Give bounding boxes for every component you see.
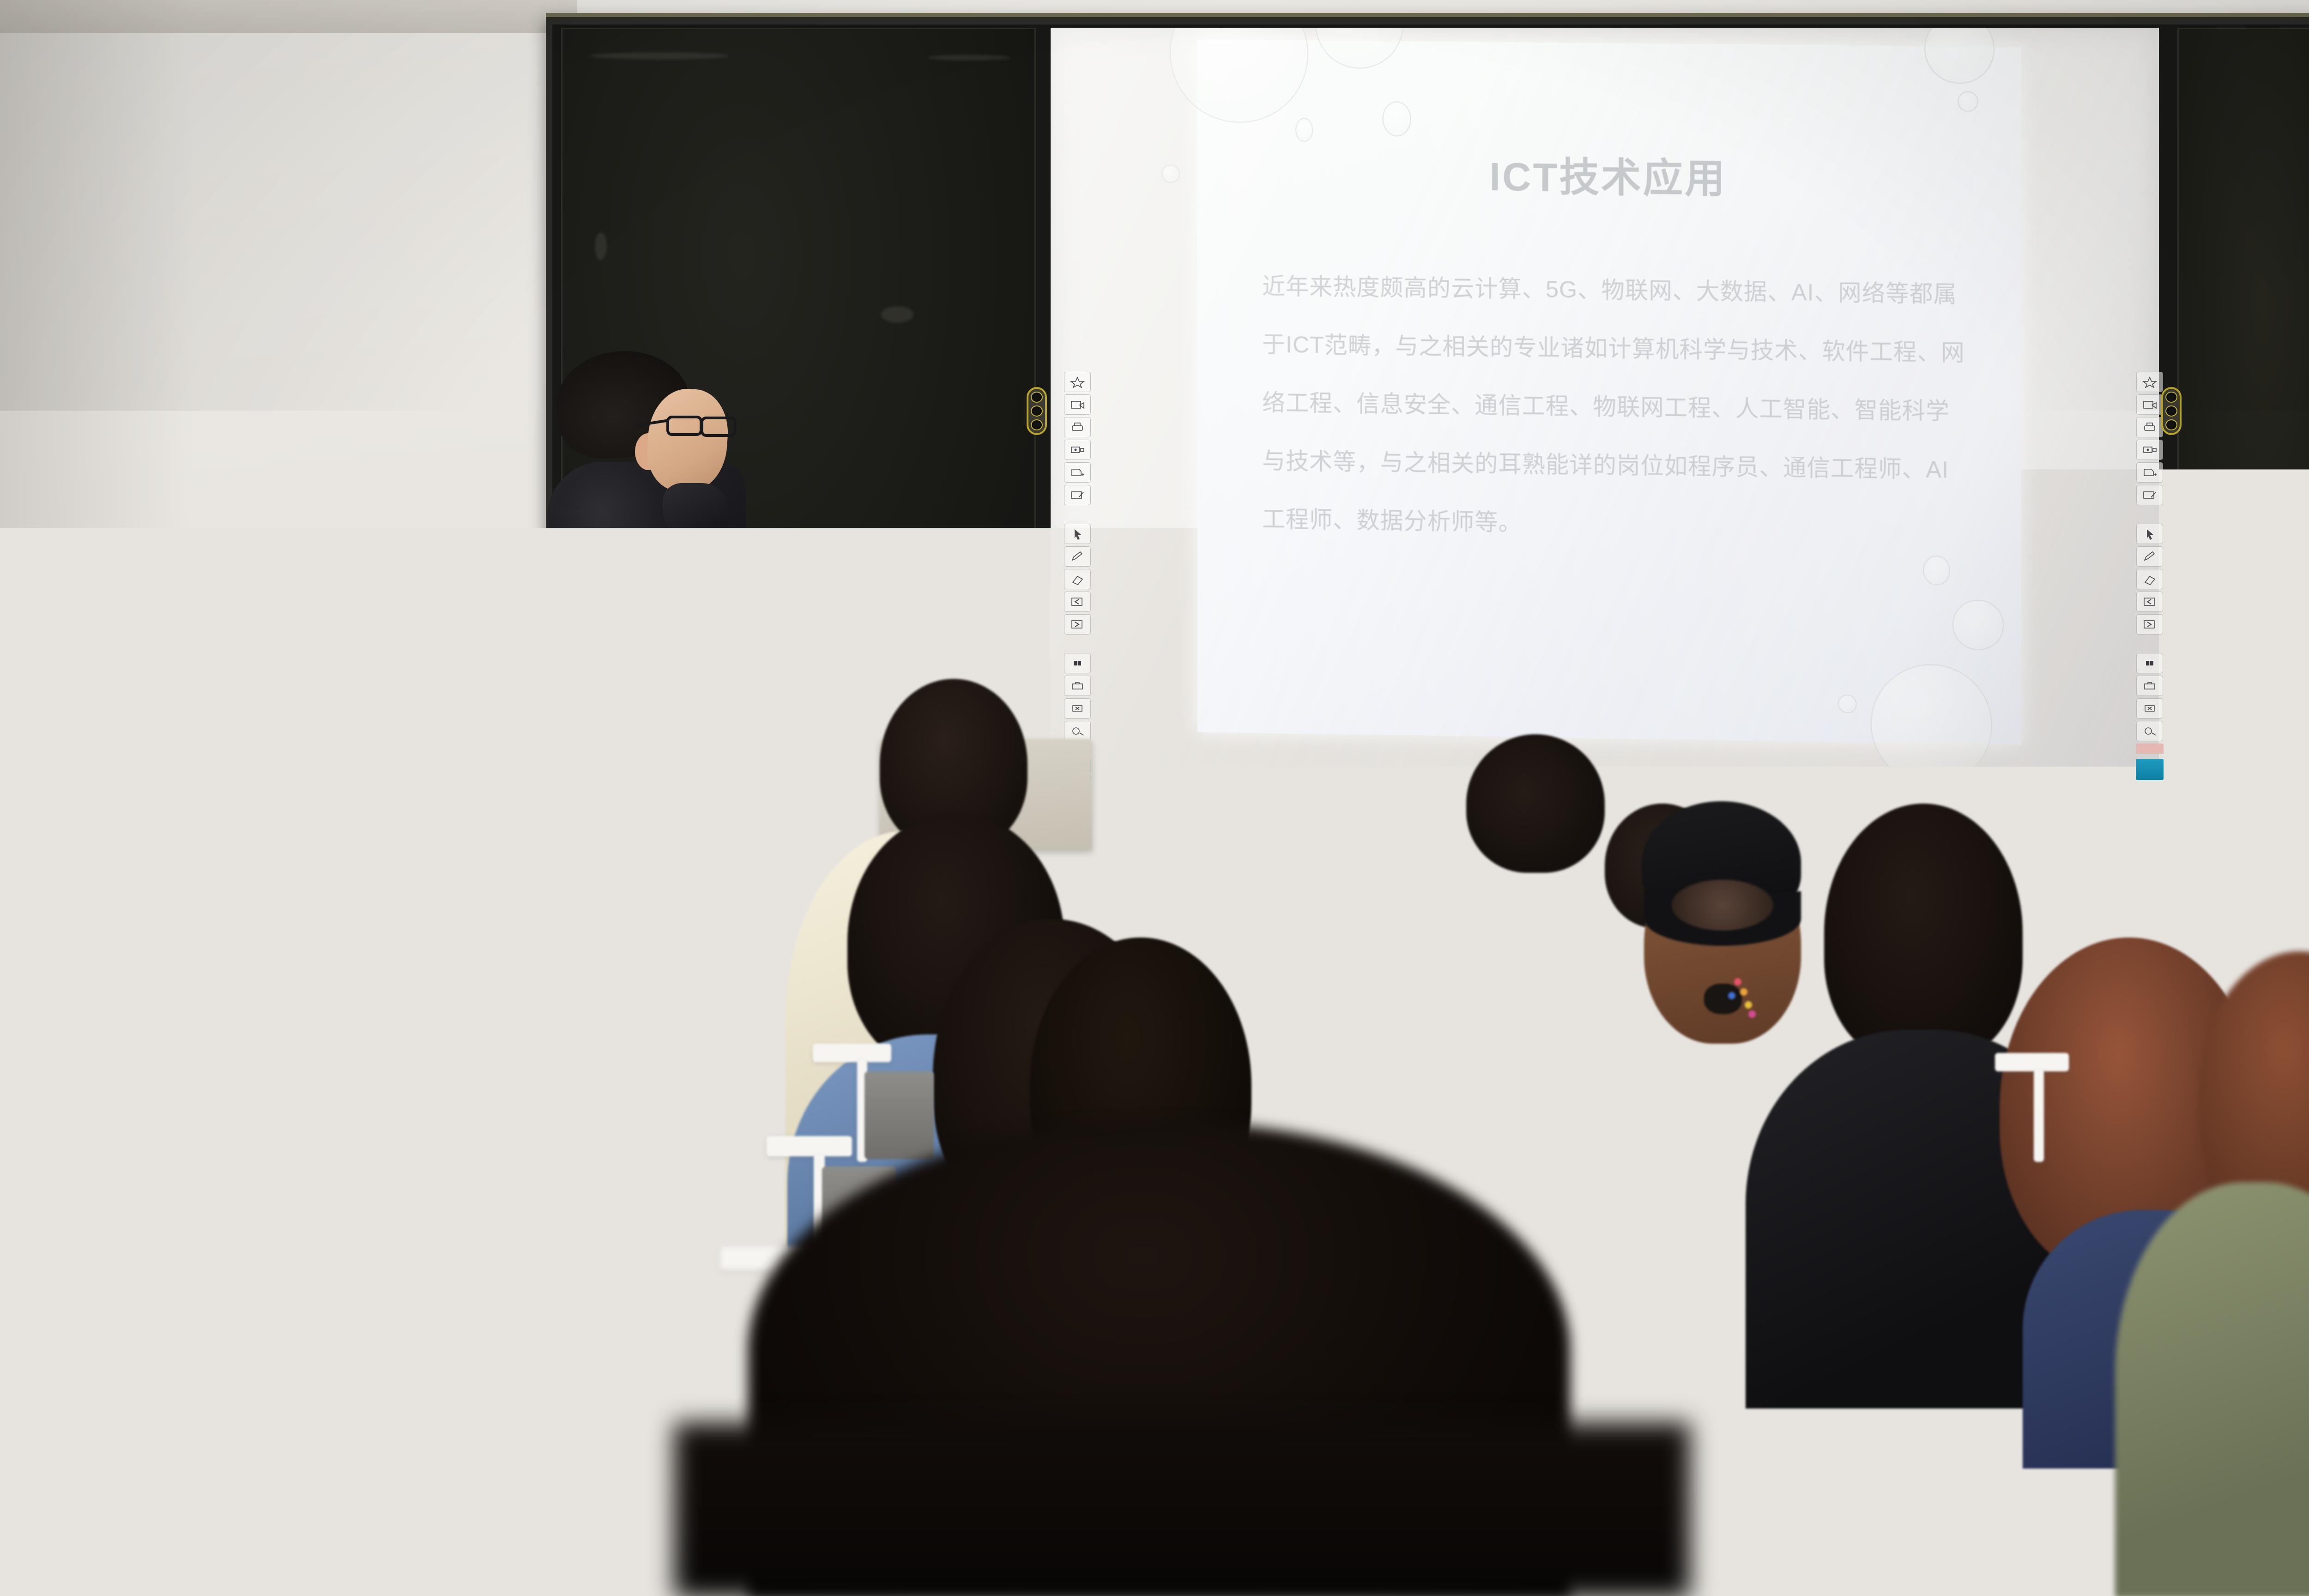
new-page-icon[interactable]: [1064, 462, 1091, 483]
iwb-toolbar-left[interactable]: [1058, 372, 1097, 780]
bubble-decoration-icon: [1923, 556, 1950, 586]
save-icon[interactable]: [1064, 394, 1091, 415]
bead: [1745, 1001, 1752, 1009]
new-page-icon[interactable]: [2136, 462, 2163, 483]
jacket-brand-text: Liliw: [1383, 944, 1523, 1023]
eraser-icon[interactable]: [2136, 569, 2163, 589]
bubble-decoration-icon: [1952, 599, 2004, 650]
student-bow-hair-bun: [65, 1210, 180, 1325]
help-icon[interactable]: [2136, 721, 2163, 741]
power-led-icon: [718, 806, 725, 813]
slide-body-line: 于ICT范畴，与之相关的专业诸如计算机科学与技术、软件工程、网: [1262, 315, 1969, 382]
print-icon[interactable]: [2136, 417, 2163, 437]
slide-title: ICT技术应用: [1197, 141, 2021, 208]
iwb-pen-tray-left[interactable]: [1027, 387, 1047, 435]
chair-bottom-left-foreground: [0, 1427, 490, 1596]
previous-page-icon[interactable]: [1064, 592, 1091, 612]
chalkboard-panel-right: [2177, 28, 2309, 785]
hair-tie: [1704, 984, 1742, 1014]
bubble-decoration-icon: [1161, 164, 1180, 183]
help-icon[interactable]: [1064, 721, 1091, 741]
bubble-decoration-icon: [1315, 28, 1403, 69]
close-icon[interactable]: [1064, 698, 1091, 719]
pen-icon[interactable]: [2136, 546, 2163, 567]
bead: [1728, 992, 1735, 999]
bubble-decoration-icon: [1958, 91, 1978, 112]
bead: [1748, 1010, 1756, 1018]
projector-icon[interactable]: [1064, 440, 1091, 460]
save-icon[interactable]: [2136, 394, 2163, 415]
cursor-select-icon[interactable]: [1064, 524, 1091, 544]
favorite-star-icon[interactable]: [1064, 372, 1091, 392]
next-page-icon[interactable]: [2136, 614, 2163, 635]
student-center-foreground-shoulder: [674, 1422, 1690, 1596]
slide-body-line: 近年来热度颇高的云计算、5G、物联网、大数据、AI、网络等都属: [1262, 257, 1969, 324]
eyeglasses-icon: [666, 416, 737, 437]
av-cable: [1076, 785, 1316, 868]
monitor-cable: [603, 824, 695, 857]
bubble-decoration-icon: [1383, 101, 1411, 137]
cap-opening: [1672, 880, 1773, 931]
slide-body-text: 近年来热度颇高的云计算、5G、物联网、大数据、AI、网络等都属 于ICT范畴，与…: [1262, 257, 1969, 558]
annotate-screen-icon[interactable]: [2136, 485, 2163, 505]
student-black-jacket-right-head: [1824, 804, 2023, 1062]
student-bottom-right-foreground: [1542, 1339, 1958, 1596]
bead: [1740, 988, 1747, 996]
iwb-toolbar-right[interactable]: [2130, 372, 2170, 780]
bead: [1734, 978, 1741, 985]
pen-icon[interactable]: [1064, 546, 1091, 567]
projector-icon[interactable]: [2136, 440, 2163, 460]
bubble-decoration-icon: [1170, 28, 1308, 123]
monitor-vent: [575, 704, 774, 713]
iwb-brand-logo: [2136, 759, 2164, 780]
projection-screen: ICT技术应用 近年来热度颇高的云计算、5G、物联网、大数据、AI、网络等都属 …: [1051, 28, 2159, 767]
classroom-chair[interactable]: [1995, 1053, 2115, 1219]
bubble-decoration-icon: [1924, 28, 1995, 84]
computer-monitor: PHILIPS: [533, 658, 831, 843]
monitor-brand-label: PHILIPS: [533, 682, 831, 696]
presentation-slide: ICT技术应用 近年来热度颇高的云计算、5G、物联网、大数据、AI、网络等都属 …: [1197, 39, 2021, 744]
eraser-icon[interactable]: [1064, 569, 1091, 589]
iwb-pen-tray-right[interactable]: [2161, 387, 2182, 435]
close-icon[interactable]: [2136, 698, 2163, 719]
windows-icon[interactable]: [2136, 653, 2163, 673]
toolbox-icon[interactable]: [2136, 676, 2163, 696]
classroom-photo: ICT技术应用 近年来热度颇高的云计算、5G、物联网、大数据、AI、网络等都属 …: [0, 0, 2309, 1596]
windows-icon[interactable]: [1064, 653, 1091, 673]
print-icon[interactable]: [1064, 417, 1091, 437]
cursor-select-icon[interactable]: [2136, 524, 2163, 544]
bubble-decoration-icon: [1295, 118, 1313, 142]
favorite-star-icon[interactable]: [2136, 372, 2163, 392]
previous-page-icon[interactable]: [2136, 592, 2163, 612]
iwb-logo-top: [2136, 744, 2164, 754]
student-back-row-center-head: [1466, 734, 1605, 873]
toolbox-icon[interactable]: [1064, 676, 1091, 696]
slide-body-line: 与技术等，与之相关的耳熟能详的岗位如程序员、通信工程师、AI: [1262, 432, 1969, 500]
slide-body-line: 络工程、信息安全、通信工程、物联网工程、人工智能、智能科学: [1262, 374, 1969, 441]
annotate-screen-icon[interactable]: [1064, 485, 1091, 505]
bubble-decoration-icon: [1871, 663, 1992, 767]
next-page-icon[interactable]: [1064, 614, 1091, 635]
bubble-decoration-icon: [1838, 695, 1856, 713]
slide-body-line: 工程师、数据分析师等。: [1262, 490, 1969, 558]
